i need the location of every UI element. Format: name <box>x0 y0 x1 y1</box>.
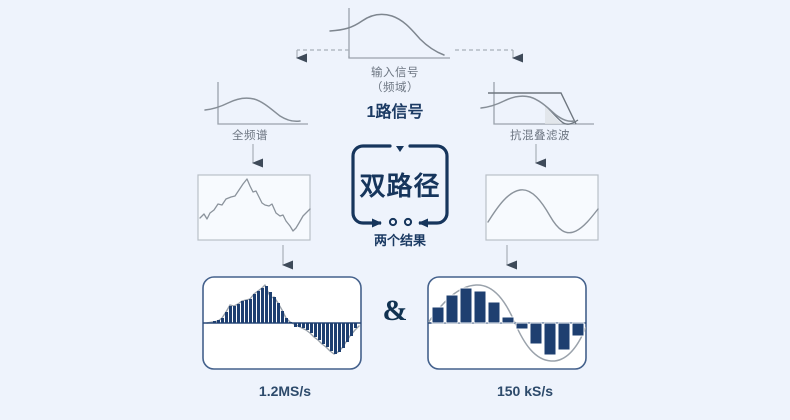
input-signal-label-line2: （频域） <box>310 81 480 96</box>
input-signal-label: 输入信号 （频域） <box>310 66 480 96</box>
panel-low-rate-result <box>428 277 586 369</box>
low-rate-label: 150 kS/s <box>455 383 595 399</box>
connector-branch-top <box>297 50 513 58</box>
connector-arrows-mid <box>253 144 536 163</box>
dual-path-badge-title: 双路径 <box>337 166 463 203</box>
full-spectrum-label: 全频谱 <box>195 127 305 143</box>
anti-alias-filter-label: 抗混叠滤波 <box>480 127 600 143</box>
two-results-label: 两个结果 <box>337 230 463 249</box>
high-rate-label: 1.2MS/s <box>215 383 355 399</box>
panel-high-rate-result <box>203 277 361 369</box>
ampersand-joiner: & <box>372 296 418 326</box>
chart-anti-alias-filter <box>481 82 594 124</box>
chart-filtered-sine-waveform <box>486 175 598 240</box>
chart-full-spectrum <box>205 82 308 124</box>
input-signal-label-line1: 输入信号 <box>310 66 480 81</box>
diagram-canvas: 输入信号 （频域） 1路信号 全频谱 抗混叠滤波 双路径 两个结果 & 1.2M… <box>0 0 790 420</box>
chart-full-spectrum-waveform <box>198 175 310 240</box>
diagram-graphics <box>0 0 790 420</box>
one-path-label: 1路信号 <box>310 98 480 122</box>
